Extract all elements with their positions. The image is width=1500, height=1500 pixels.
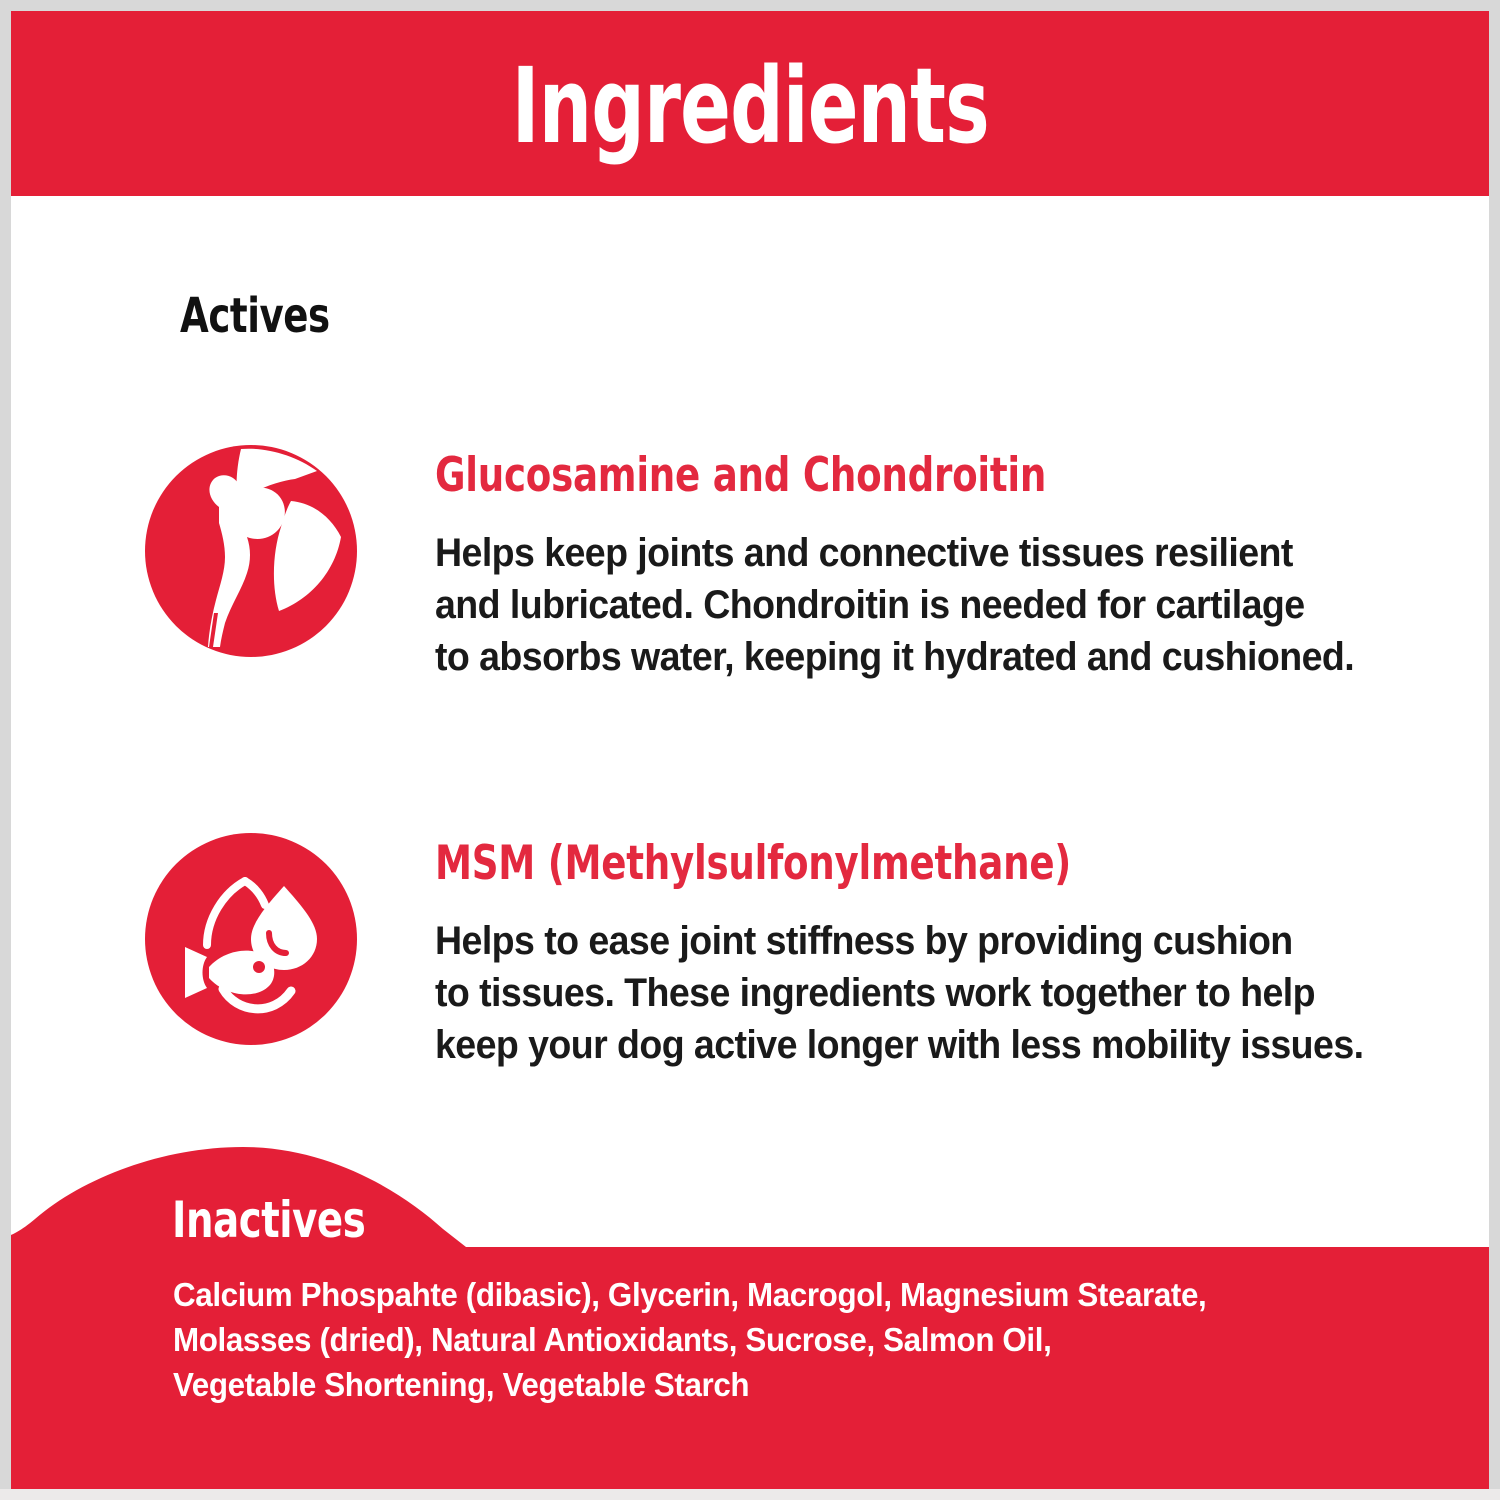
page-edge-left <box>0 0 11 1500</box>
description-line: to tissues. These ingredients work toget… <box>435 967 1414 1019</box>
ingredient-text-block: MSM (Methylsulfonylmethane) Helps to eas… <box>435 833 1465 1071</box>
description-line: Helps keep joints and connective tissues… <box>435 527 1414 579</box>
description-line: keep your dog active longer with less mo… <box>435 1019 1414 1071</box>
actives-section-label: Actives <box>180 292 330 340</box>
inactives-line: Calcium Phospahte (dibasic), Glycerin, M… <box>173 1272 1206 1317</box>
ingredient-description: Helps keep joints and connective tissues… <box>435 527 1414 683</box>
description-line: and lubricated. Chondroitin is needed fo… <box>435 579 1414 631</box>
inactives-section: Inactives Calcium Phospahte (dibasic), G… <box>11 1147 1489 1489</box>
ingredients-panel: Ingredients Actives Glucosamine and Chon… <box>0 0 1500 1500</box>
page-edge-top <box>0 0 1500 11</box>
inactives-content: Inactives Calcium Phospahte (dibasic), G… <box>11 1147 1489 1489</box>
description-line: Helps to ease joint stiffness by providi… <box>435 915 1414 967</box>
page-edge-right <box>1489 0 1500 1500</box>
inactives-line: Molasses (dried), Natural Antioxidants, … <box>173 1317 1206 1362</box>
header-banner: Ingredients <box>11 11 1489 196</box>
page-title: Ingredients <box>511 54 988 158</box>
ingredient-description: Helps to ease joint stiffness by providi… <box>435 915 1414 1071</box>
ingredient-name: MSM (Methylsulfonylmethane) <box>435 839 1341 889</box>
description-line: to absorbs water, keeping it hydrated an… <box>435 631 1414 683</box>
inactives-line: Vegetable Shortening, Vegetable Starch <box>173 1362 1206 1407</box>
page-edge-bottom <box>0 1489 1500 1500</box>
ingredient-row: MSM (Methylsulfonylmethane) Helps to eas… <box>145 833 1465 1071</box>
ingredient-text-block: Glucosamine and Chondroitin Helps keep j… <box>435 445 1465 683</box>
inactives-section-label: Inactives <box>172 1195 365 1245</box>
ingredient-row: Glucosamine and Chondroitin Helps keep j… <box>145 445 1465 683</box>
ingredient-name: Glucosamine and Chondroitin <box>435 451 1341 501</box>
inactives-ingredient-list: Calcium Phospahte (dibasic), Glycerin, M… <box>173 1272 1206 1407</box>
joint-bone-icon <box>145 445 357 657</box>
fish-oil-drop-icon <box>145 833 357 1045</box>
